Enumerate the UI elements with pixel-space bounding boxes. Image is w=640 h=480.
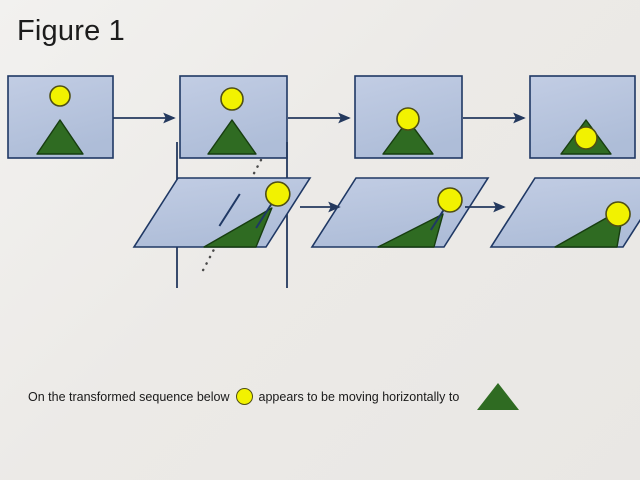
caption: On the transformed sequence below appear… (28, 383, 519, 410)
panel-t3-circle (606, 202, 630, 226)
caption-text-after: appears to be moving horizontally to (259, 390, 460, 404)
green-triangle-icon (477, 383, 519, 410)
panel-t2 (312, 178, 488, 247)
panel-t1 (134, 178, 310, 247)
yellow-circle-icon (236, 388, 253, 405)
caption-text-before: On the transformed sequence below (28, 390, 230, 404)
panel-t1-circle (266, 182, 290, 206)
panel-t2-circle (438, 188, 462, 212)
transformed-sequence-row (0, 0, 640, 300)
figure-canvas: Figure 1 On the transformed sequence bel… (0, 0, 640, 480)
panel-t3 (491, 178, 640, 247)
